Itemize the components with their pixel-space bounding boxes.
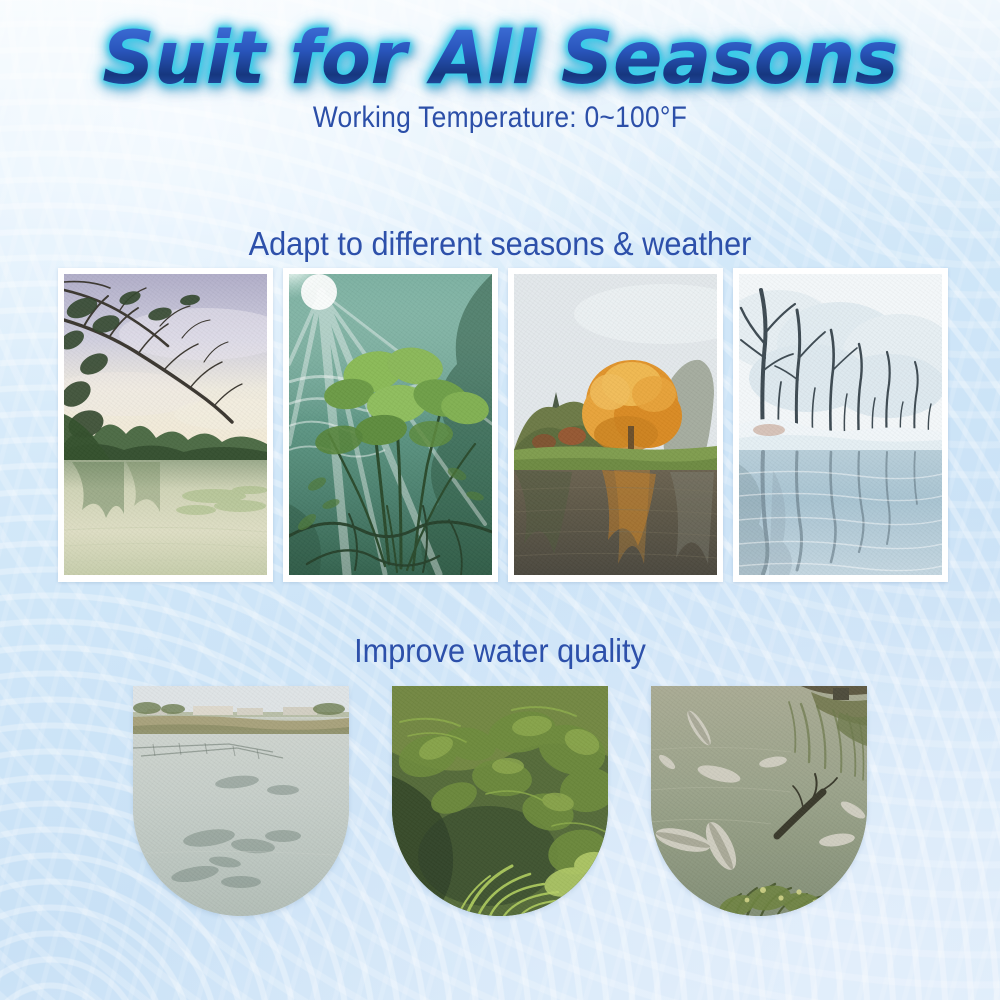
spring-photo-texture <box>64 274 267 575</box>
page-subtitle: Working Temperature: 0~100°F <box>60 101 940 135</box>
underwater-photo-texture <box>289 274 492 575</box>
underwater-plants-photo-frame <box>283 268 498 582</box>
seasons-photo-row <box>58 268 948 582</box>
spring-lake-photo-frame <box>58 268 273 582</box>
fish-in-water-photo <box>651 686 867 916</box>
underwater-plants-photo <box>289 274 492 575</box>
winter-photo-texture <box>739 274 942 575</box>
algae-water-photo <box>392 686 608 916</box>
winter-snow-photo <box>739 274 942 575</box>
murky-pond-texture <box>133 686 349 916</box>
autumn-trees-photo-frame <box>508 268 723 582</box>
fish-in-water-texture <box>651 686 867 916</box>
autumn-trees-photo <box>514 274 717 575</box>
winter-snow-photo-frame <box>733 268 948 582</box>
quality-section-heading: Improve water quality <box>35 632 965 670</box>
quality-photo-row <box>133 686 867 916</box>
page-title: Suit for All Seasons <box>0 22 1000 95</box>
murky-pond-photo <box>133 686 349 916</box>
seasons-section-heading: Adapt to different seasons & weather <box>35 225 965 263</box>
header: Suit for All Seasons Working Temperature… <box>0 0 1000 135</box>
autumn-photo-texture <box>514 274 717 575</box>
spring-lake-photo <box>64 274 267 575</box>
algae-water-texture <box>392 686 608 916</box>
